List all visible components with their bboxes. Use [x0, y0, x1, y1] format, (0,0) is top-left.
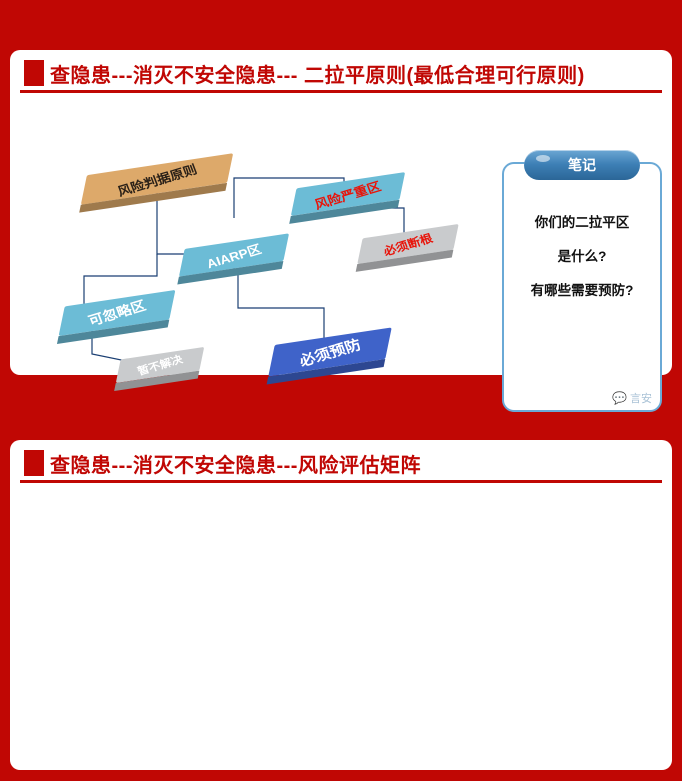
- flow-node-label: 必须断根: [381, 229, 435, 259]
- notes-line: 你们的二拉平区: [504, 206, 660, 240]
- slide-one: 查隐患---消灭不安全隐患--- 二拉平原则(最低合理可行原则) 风险判据原则 …: [10, 50, 672, 375]
- notes-card-one: 笔记 你们的二拉平区是什么?有哪些需要预防? 💬 言安: [502, 162, 662, 412]
- slide-deck-page: 查隐患---消灭不安全隐患--- 二拉平原则(最低合理可行原则) 风险判据原则 …: [0, 0, 682, 781]
- notes-body-one: 你们的二拉平区是什么?有哪些需要预防?: [504, 206, 660, 307]
- slide-two-header: 查隐患---消灭不安全隐患---风险评估矩阵: [10, 440, 672, 486]
- page-title: 查隐患---消灭不安全隐患---风险评估矩阵: [50, 449, 421, 478]
- risk-criteria-flow-diagram: 风险判据原则 风险严重区 必须断根 AIARP区 必须预防 可忽略区 暂不解决: [24, 158, 494, 416]
- slide-one-header: 查隐患---消灭不安全隐患--- 二拉平原则(最低合理可行原则): [10, 50, 672, 96]
- header-underline: [20, 90, 662, 93]
- watermark-text: 言安: [630, 390, 652, 406]
- header-underline: [20, 480, 662, 483]
- wechat-icon: 💬: [612, 391, 627, 405]
- notes-line: 是什么?: [504, 240, 660, 274]
- page-title: 查隐患---消灭不安全隐患--- 二拉平原则(最低合理可行原则): [50, 59, 585, 88]
- slide-two: 查隐患---消灭不安全隐患---风险评估矩阵 风险评估矩阵表 风险矩阵中等风险（…: [10, 440, 672, 770]
- flow-node-label: 必须预防: [296, 334, 363, 371]
- notes-caption: 笔记: [524, 150, 640, 180]
- page-flag-icon: [24, 450, 38, 476]
- flow-node-label: 可忽略区: [86, 296, 149, 331]
- watermark: 💬 言安: [612, 390, 652, 406]
- flow-node-label: 暂不解决: [135, 351, 185, 379]
- page-flag-icon: [24, 60, 38, 86]
- notes-line: 有哪些需要预防?: [504, 274, 660, 308]
